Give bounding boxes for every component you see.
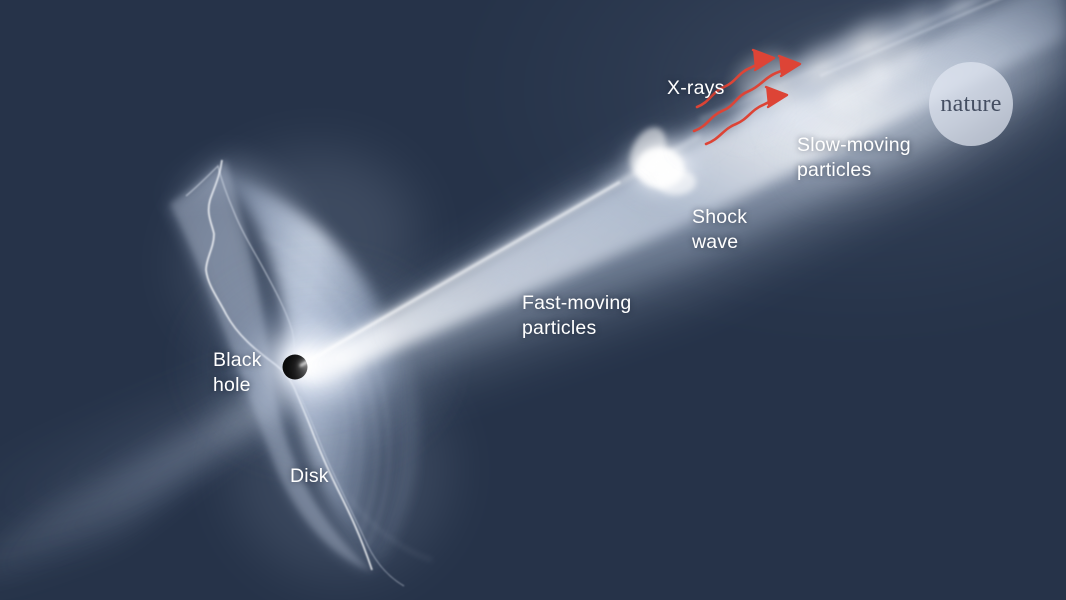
- black-hole-illustration: X-rays Slow-moving particles Shock wave …: [0, 0, 1066, 600]
- nature-wordmark: nature: [940, 92, 1001, 116]
- nature-logo: nature: [929, 62, 1013, 146]
- illustration-canvas: [0, 0, 1066, 600]
